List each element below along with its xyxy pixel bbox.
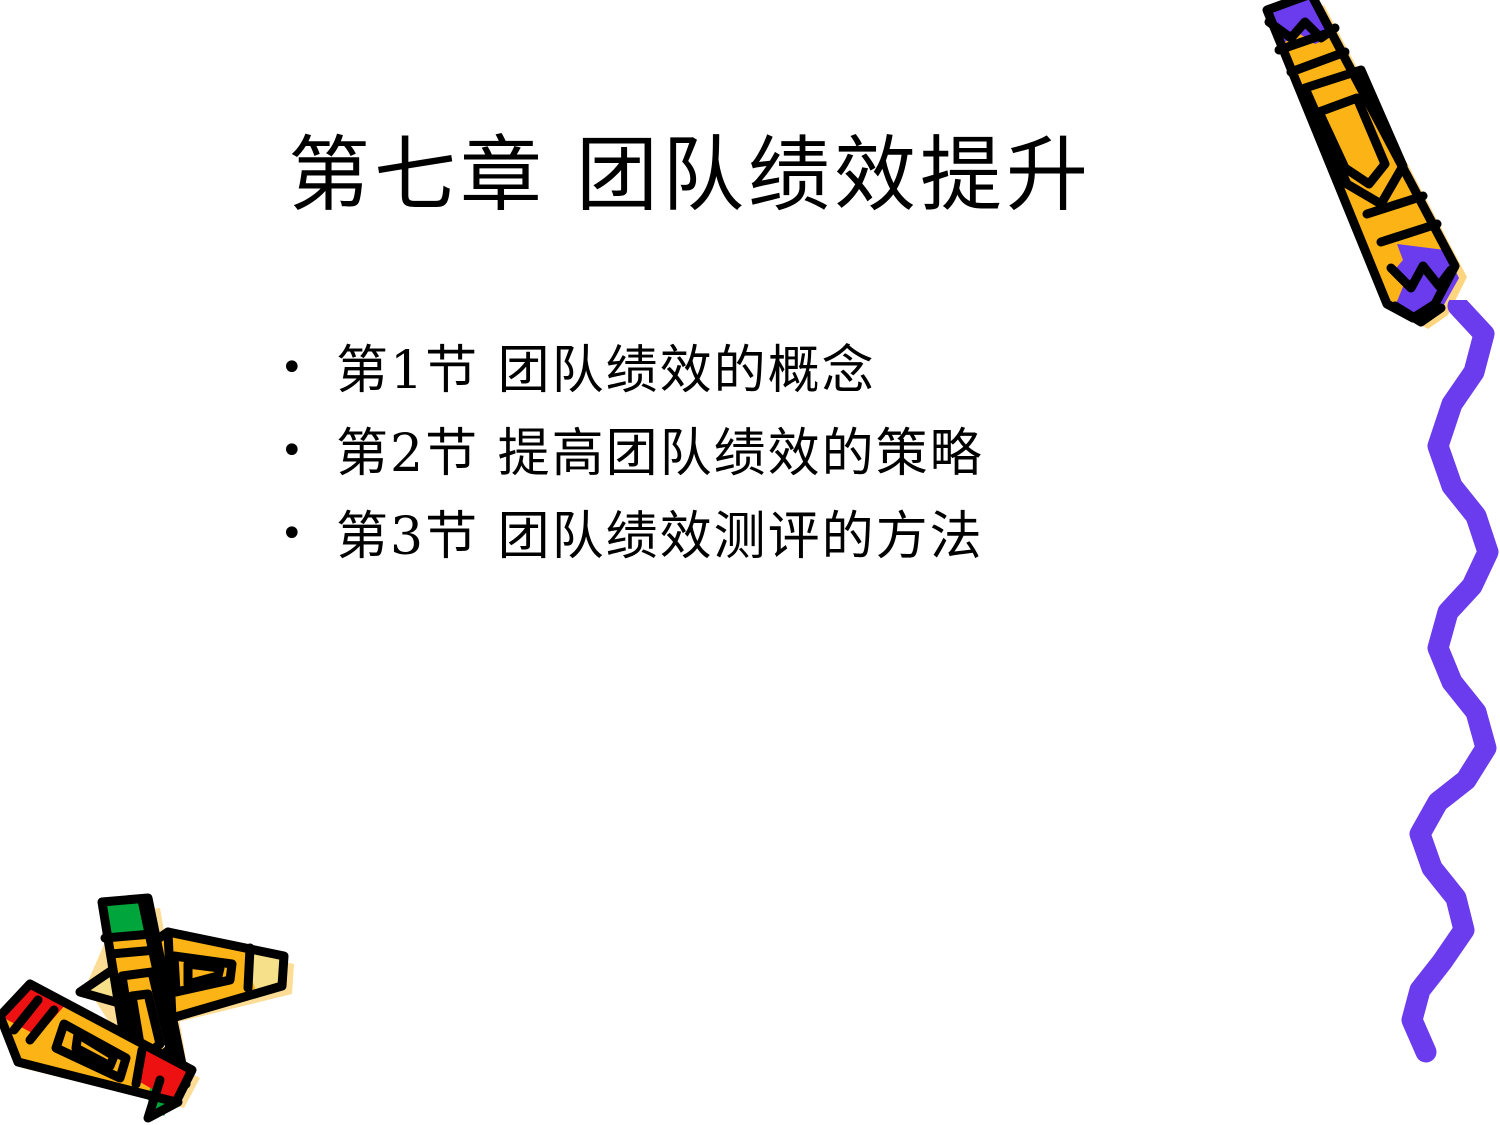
list-item: • 第3节 团队绩效测评的方法 xyxy=(280,509,1160,592)
slide-canvas: 第七章 团队绩效提升 • 第1节 团队绩效的概念 • 第2节 提高团队绩效的策略… xyxy=(0,0,1500,1125)
list-item-label: 第3节 团队绩效测评的方法 xyxy=(336,509,984,563)
bullet-point-icon: • xyxy=(280,343,336,393)
bullet-point-icon: • xyxy=(280,426,336,476)
section-list: • 第1节 团队绩效的概念 • 第2节 提高团队绩效的策略 • 第3节 团队绩效… xyxy=(280,343,1160,592)
list-item: • 第1节 团队绩效的概念 xyxy=(280,343,1160,426)
squiggle-stroke-icon xyxy=(1380,300,1500,1070)
page-title: 第七章 团队绩效提升 xyxy=(150,132,1230,221)
crayon-icon xyxy=(1245,0,1500,352)
crayon-cluster-icon xyxy=(0,872,322,1125)
list-item-label: 第1节 团队绩效的概念 xyxy=(336,343,876,397)
list-item-label: 第2节 提高团队绩效的策略 xyxy=(336,426,984,480)
bullet-point-icon: • xyxy=(280,509,336,559)
list-item: • 第2节 提高团队绩效的策略 xyxy=(280,426,1160,509)
